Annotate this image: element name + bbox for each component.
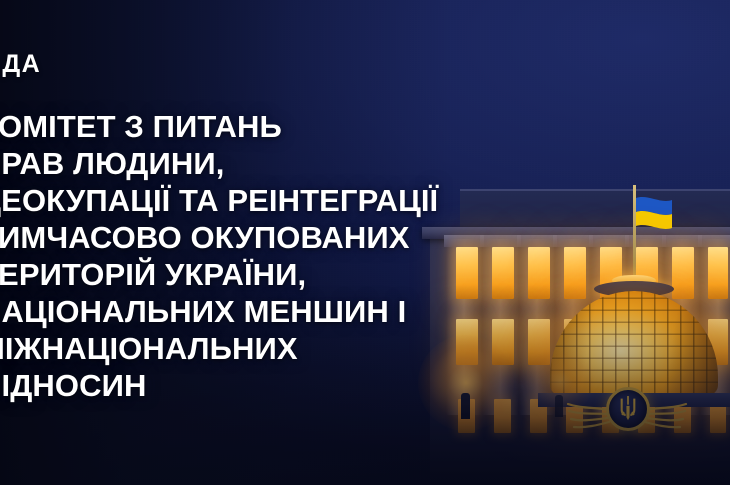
headline-line: ПРАВ ЛЮДИНИ, (0, 145, 679, 182)
headline-line: МІЖНАЦІОНАЛЬНИХ (0, 330, 679, 367)
page-title: КОМІТЕТ З ПИТАНЬ ПРАВ ЛЮДИНИ, ДЕОКУПАЦІЇ… (0, 108, 679, 404)
headline-line: ВІДНОСИН (0, 367, 679, 404)
kicker-text: АДА (0, 50, 41, 79)
emblem-wing-right (644, 401, 688, 431)
headline-line: КОМІТЕТ З ПИТАНЬ (0, 108, 679, 145)
headline-line: НАЦІОНАЛЬНИХ МЕНШИН І (0, 293, 679, 330)
headline-line: ТЕРИТОРІЙ УКРАЇНИ, (0, 256, 679, 293)
headline-line: ТИМЧАСОВО ОКУПОВАНИХ (0, 219, 679, 256)
headline-line: ДЕОКУПАЦІЇ ТА РЕІНТЕГРАЦІЇ (0, 182, 679, 219)
poster-canvas: АДА КОМІТЕТ З ПИТАНЬ ПРАВ ЛЮДИНИ, ДЕОКУП… (0, 0, 730, 485)
